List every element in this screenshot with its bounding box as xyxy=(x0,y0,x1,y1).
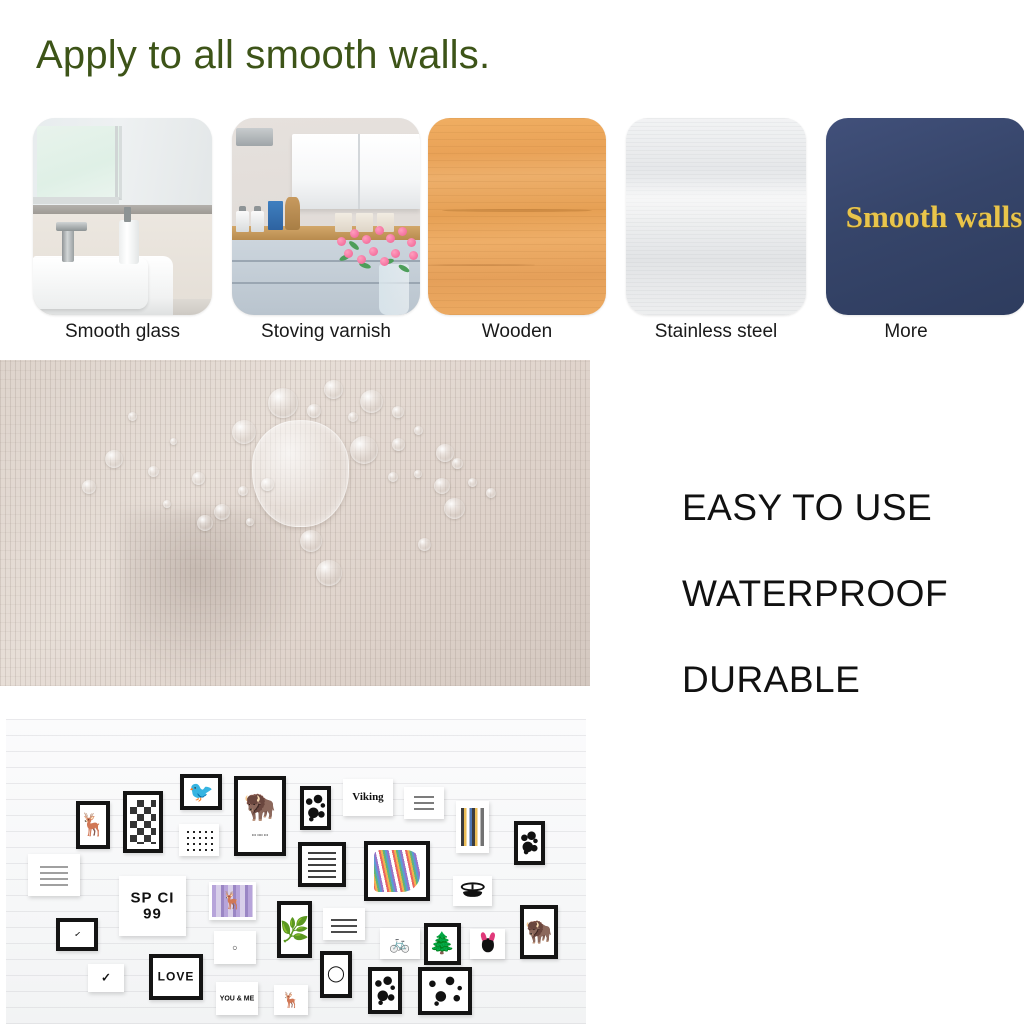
sink-basin xyxy=(33,258,148,309)
frame-circle-quote: ○ xyxy=(214,931,256,964)
feature-list: EASY TO USE WATERPROOF DURABLE xyxy=(682,487,948,745)
frame-art: Viking xyxy=(346,782,390,813)
water-droplet xyxy=(348,412,358,422)
frame-art xyxy=(456,879,489,903)
frame-art: SP CI 99 xyxy=(122,879,183,933)
frame-art: LOVE xyxy=(153,958,199,996)
frame-art: 🦌 xyxy=(80,805,106,845)
frame-art: 🦬 xyxy=(524,909,554,955)
upper-cabinets xyxy=(292,134,420,209)
frame-feather: ✓ xyxy=(88,964,124,992)
frame-branch xyxy=(514,821,545,865)
frame-abstract-face xyxy=(300,786,331,830)
water-droplet xyxy=(414,426,423,435)
frame-purple-deer: 🦌 xyxy=(209,882,256,920)
water-droplet xyxy=(414,470,422,478)
frame-art xyxy=(422,971,468,1011)
water-droplet xyxy=(418,538,431,551)
frame-art-text: SP CI 99 xyxy=(122,890,183,922)
wall-trim-band xyxy=(33,205,212,214)
frame-deer-sketch: 🦌 xyxy=(76,801,110,849)
water-droplet xyxy=(307,404,321,418)
water-droplet xyxy=(324,380,343,399)
water-droplet xyxy=(486,488,496,498)
blue-utensil-holder xyxy=(268,201,283,231)
feature-waterproof: WATERPROOF xyxy=(682,573,948,615)
frame-art-text: LOVE xyxy=(153,971,199,984)
water-droplet xyxy=(392,406,404,418)
frame-art: ✓ xyxy=(91,967,121,989)
frame-small-deer: 🦌 xyxy=(274,985,308,1015)
frame-bird: 🐦 xyxy=(180,774,222,810)
frame-art xyxy=(518,825,541,861)
hook-shadow xyxy=(120,510,310,685)
wooden-swatch xyxy=(428,118,606,315)
cabinet-divider xyxy=(358,134,360,209)
surface-label-stainless-steel: Stainless steel xyxy=(626,321,806,343)
frame-dot-art xyxy=(179,824,219,856)
frame-art xyxy=(326,911,362,937)
water-droplet xyxy=(392,438,405,451)
frame-art xyxy=(473,932,502,956)
frame-art: 🌲 xyxy=(428,927,457,961)
more-card: Smooth walls xyxy=(826,118,1024,315)
water-droplet xyxy=(388,472,398,482)
frame-antlers-quote: 🦬 ••• •••• ••• xyxy=(234,776,286,856)
frame-viking: Viking xyxy=(343,779,393,816)
frame-art: 🦬 ••• •••• ••• xyxy=(238,780,282,852)
window-mullion-icon xyxy=(115,126,118,197)
frame-art-text: YOU & ME xyxy=(219,994,255,1003)
frame-art xyxy=(127,795,159,849)
frame-art xyxy=(304,790,327,826)
frame-color-grid xyxy=(456,801,489,853)
surface-label-smooth-glass: Smooth glass xyxy=(33,321,212,343)
surface-tile-stoving-varnish[interactable]: Stoving varnish xyxy=(232,118,420,315)
window-sill xyxy=(33,197,119,204)
frame-art: 🚲 xyxy=(383,931,417,956)
frame-abstract-white xyxy=(368,967,402,1014)
more-card-text: Smooth walls xyxy=(846,199,1023,235)
water-droplet xyxy=(197,515,213,531)
frame-art: ○ xyxy=(217,934,253,961)
frame-you-and-me: YOU & ME xyxy=(216,982,258,1015)
surface-label-wooden: Wooden xyxy=(428,321,606,343)
water-droplet xyxy=(170,438,177,445)
stainless-steel-swatch xyxy=(626,118,806,315)
water-droplet xyxy=(316,560,342,586)
frame-handwriting xyxy=(28,854,80,896)
faucet-spout-icon xyxy=(56,222,86,231)
frame-symbols xyxy=(298,842,346,887)
surface-tile-smooth-glass[interactable]: Smooth glass xyxy=(33,118,212,315)
water-droplet xyxy=(436,444,454,462)
water-droplet xyxy=(246,518,254,526)
soap-dispenser-pump xyxy=(124,207,131,223)
frame-diamond-pattern xyxy=(123,791,163,853)
hook-demo-photo xyxy=(0,360,590,686)
frame-art xyxy=(372,971,398,1010)
frame-oval-quote: ◯ xyxy=(320,951,352,998)
frame-art: 🦌 xyxy=(212,885,253,917)
surface-label-stoving-varnish: Stoving varnish xyxy=(232,321,420,343)
canister xyxy=(251,211,264,233)
frame-mustache-glasses xyxy=(453,876,492,906)
water-droplet xyxy=(360,390,383,413)
gallery-wall-photo: 🦌 🐦 🦬 ••• •••• ••• Viking xyxy=(6,719,586,1024)
page-title: Apply to all smooth walls. xyxy=(36,33,490,78)
water-droplet xyxy=(350,436,378,464)
frame-art: 🌿 xyxy=(281,905,308,954)
frame-art: 🦌 xyxy=(277,988,305,1012)
smooth-glass-photo xyxy=(33,118,212,315)
water-droplet xyxy=(261,478,274,491)
frame-art xyxy=(407,790,441,816)
water-droplet xyxy=(452,458,463,469)
water-droplet xyxy=(128,412,137,421)
frame-art xyxy=(459,804,486,850)
water-droplet xyxy=(105,450,123,468)
range-hood xyxy=(236,128,274,146)
water-droplet xyxy=(434,478,450,494)
water-droplet xyxy=(163,500,171,508)
frame-tree: 🌲 xyxy=(424,923,461,965)
frame-tree-silhouette xyxy=(418,967,472,1015)
pink-flowers xyxy=(330,217,420,284)
frame-art xyxy=(182,827,216,853)
frame-bicycle: 🚲 xyxy=(380,928,420,959)
bathroom-window xyxy=(37,126,122,200)
frame-art: 🐦 xyxy=(184,778,218,806)
surface-label-more: More xyxy=(826,321,986,343)
wood-grain-line xyxy=(442,209,592,212)
water-droplet xyxy=(214,504,230,520)
surface-tile-stainless-steel[interactable]: Stainless steel xyxy=(626,118,806,315)
water-droplet xyxy=(300,530,322,552)
cutting-board xyxy=(285,197,300,230)
surface-tile-wooden[interactable]: Wooden xyxy=(428,118,606,315)
frame-art: ◯ xyxy=(324,955,348,994)
feature-easy-to-use: EASY TO USE xyxy=(682,487,948,529)
water-droplet xyxy=(268,388,298,418)
water-droplet xyxy=(192,472,205,485)
wood-grain-line xyxy=(428,264,535,266)
frame-love: LOVE xyxy=(149,954,203,1000)
frame-art: YOU & ME xyxy=(219,985,255,1012)
frame-art-text: Viking xyxy=(346,792,390,804)
adhesive-hook-sticker xyxy=(252,420,349,527)
frame-art xyxy=(368,845,426,897)
water-droplet xyxy=(468,478,477,487)
frame-art: ✓ xyxy=(60,922,94,947)
frame-wild-one: ✓ xyxy=(56,918,98,951)
metal-sheen xyxy=(626,177,806,220)
stoving-varnish-photo xyxy=(232,118,420,315)
frame-art xyxy=(302,846,342,883)
frame-striped-text xyxy=(323,908,365,940)
surface-tile-more[interactable]: Smooth walls More xyxy=(826,118,1024,315)
frame-leaf: 🌿 xyxy=(277,901,312,958)
surface-tile-row: Smooth glass xyxy=(0,118,1024,358)
frame-sp-ci-99: SP CI 99 xyxy=(119,876,186,936)
frame-text-block xyxy=(404,787,444,819)
frame-geometric-stag: 🦬 xyxy=(520,905,558,959)
frame-zebra xyxy=(364,841,430,901)
water-droplet xyxy=(148,466,159,477)
soap-dispenser xyxy=(119,220,139,263)
water-droplet xyxy=(232,420,256,444)
water-droplet xyxy=(444,498,465,519)
water-droplet xyxy=(82,480,96,494)
frame-dog xyxy=(470,929,505,959)
canister xyxy=(236,211,249,233)
feature-durable: DURABLE xyxy=(682,659,948,701)
water-droplet xyxy=(238,486,248,496)
frame-art xyxy=(31,857,77,893)
